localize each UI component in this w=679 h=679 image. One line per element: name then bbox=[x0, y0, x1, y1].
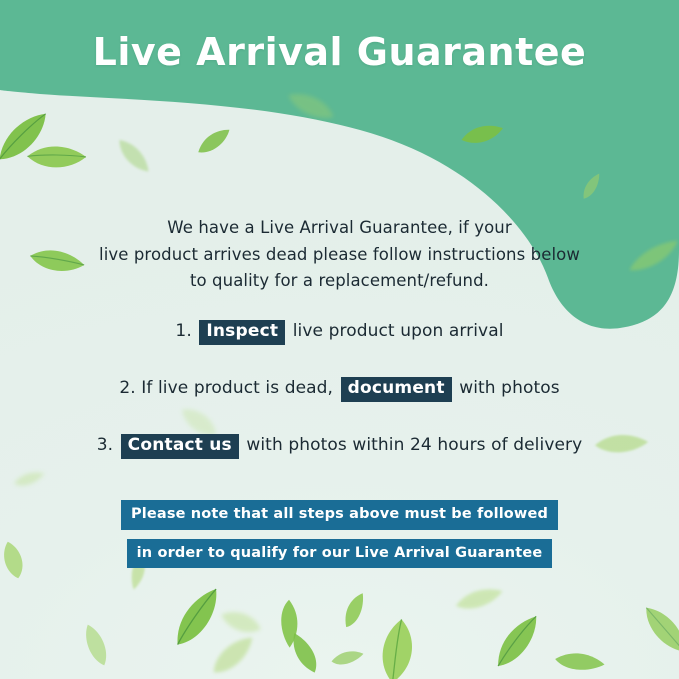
steps-list: 1. Inspect live product upon arrival 2. … bbox=[0, 320, 679, 491]
step-highlight-contact-us: Contact us bbox=[121, 434, 239, 459]
step-text-post: with photos bbox=[459, 378, 559, 398]
content-layer: Live Arrival Guarantee We have a Live Ar… bbox=[0, 0, 679, 679]
step-text-post: with photos within 24 hours of delivery bbox=[246, 435, 582, 455]
step-number: 3. bbox=[97, 435, 113, 455]
note-banner-group: Please note that all steps above must be… bbox=[0, 500, 679, 577]
intro-paragraph: We have a Live Arrival Guarantee, if you… bbox=[60, 215, 619, 295]
step-highlight-inspect: Inspect bbox=[199, 320, 285, 345]
list-item: 2. If live product is dead, document wit… bbox=[0, 377, 679, 402]
list-item: 1. Inspect live product upon arrival bbox=[0, 320, 679, 345]
intro-line-3: to quality for a replacement/refund. bbox=[60, 268, 619, 295]
guarantee-infographic: Live Arrival Guarantee We have a Live Ar… bbox=[0, 0, 679, 679]
step-number: 1. bbox=[175, 321, 191, 341]
step-text-pre: If live product is dead, bbox=[141, 378, 333, 398]
step-highlight-document: document bbox=[341, 377, 452, 402]
page-title: Live Arrival Guarantee bbox=[0, 30, 679, 74]
list-item: 3. Contact us with photos within 24 hour… bbox=[0, 434, 679, 459]
note-banner-row-1: Please note that all steps above must be… bbox=[0, 500, 679, 530]
note-banner-line-2: in order to qualify for our Live Arrival… bbox=[127, 539, 553, 569]
step-number: 2. bbox=[119, 378, 135, 398]
note-banner-line-1: Please note that all steps above must be… bbox=[121, 500, 558, 530]
intro-line-2: live product arrives dead please follow … bbox=[60, 242, 619, 269]
step-text-post: live product upon arrival bbox=[293, 321, 504, 341]
intro-line-1: We have a Live Arrival Guarantee, if you… bbox=[60, 215, 619, 242]
note-banner-row-2: in order to qualify for our Live Arrival… bbox=[0, 539, 679, 569]
